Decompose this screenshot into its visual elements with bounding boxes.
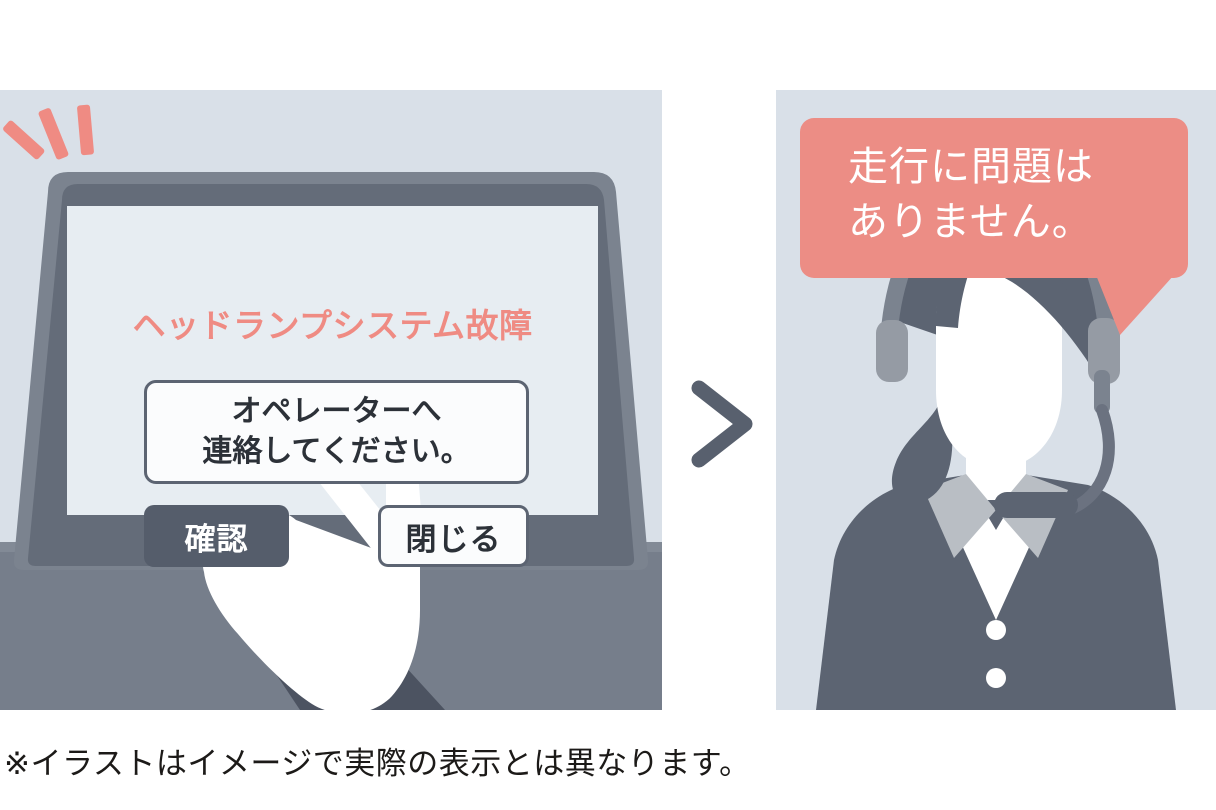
jacket-button-2 <box>986 668 1006 688</box>
speech-bubble-line-1: 走行に問題は <box>848 140 1188 195</box>
dialog-button-row: 確認 閉じる <box>144 505 529 569</box>
headset-earcup-left <box>876 320 908 382</box>
speech-bubble: 走行に問題は ありません。 <box>800 118 1188 278</box>
message-line-2: 連絡してください。 <box>202 432 470 472</box>
message-line-1: オペレーターへ <box>232 392 442 432</box>
headset-mic <box>994 492 1078 518</box>
speech-bubble-tail <box>1096 275 1186 337</box>
jacket-button-1 <box>986 620 1006 640</box>
vehicle-display-panel: ヘッドランプシステム故障 オペレーターへ 連絡してください。 確認 閉じる <box>0 90 662 710</box>
illustration-stage: ヘッドランプシステム故障 オペレーターへ 連絡してください。 確認 閉じる <box>0 0 1216 810</box>
screen-content: ヘッドランプシステム故障 オペレーターへ 連絡してください。 確認 閉じる <box>67 296 598 605</box>
close-button[interactable]: 閉じる <box>378 505 529 567</box>
figure-caption: ※イラストはイメージで実際の表示とは異なります。 <box>4 738 751 783</box>
speech-bubble-line-2: ありません。 <box>848 195 1188 250</box>
error-title: ヘッドランプシステム故障 <box>67 308 598 344</box>
message-box: オペレーターへ 連絡してください。 <box>144 380 529 484</box>
confirm-button[interactable]: 確認 <box>144 505 289 567</box>
operator-panel: 走行に問題は ありません。 <box>776 90 1216 710</box>
chevron-right-icon <box>672 372 772 476</box>
